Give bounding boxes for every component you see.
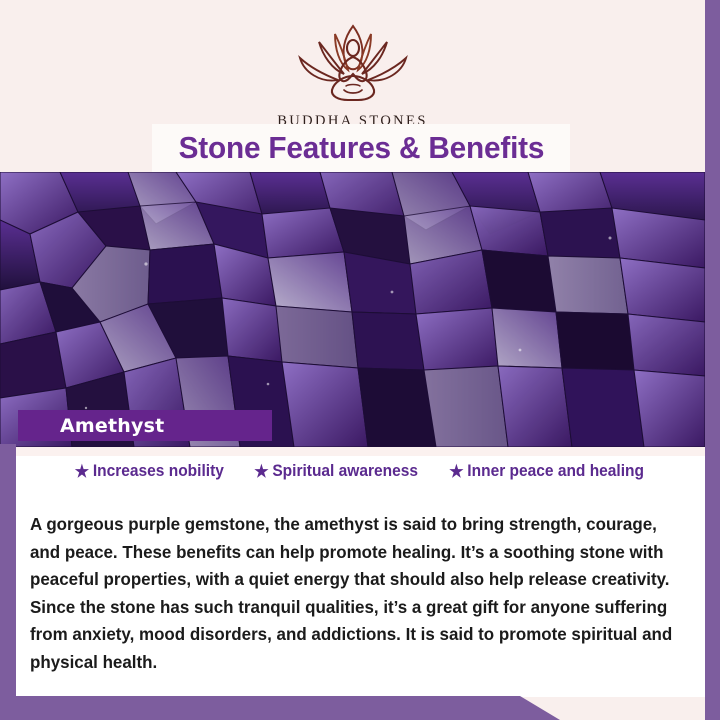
decorative-left-bar xyxy=(0,444,16,720)
brand-logo: BUDDHA STONES xyxy=(0,22,705,130)
card-top-tint xyxy=(16,447,705,456)
header: BUDDHA STONES Stone Features & Benefits xyxy=(0,0,705,172)
page-title: Stone Features & Benefits xyxy=(178,130,544,166)
content-card: ★ Increases nobility ★ Spiritual awarene… xyxy=(16,447,705,697)
feature-list: ★ Increases nobility ★ Spiritual awarene… xyxy=(16,462,705,481)
star-icon: ★ xyxy=(75,463,89,480)
title-banner: Stone Features & Benefits xyxy=(152,124,570,172)
star-icon: ★ xyxy=(254,463,268,480)
feature-label: Spiritual awareness xyxy=(272,462,418,481)
feature-label: Inner peace and healing xyxy=(468,462,645,481)
feature-label: Increases nobility xyxy=(93,462,224,481)
star-icon: ★ xyxy=(450,463,464,480)
decorative-right-bar xyxy=(705,0,720,720)
stone-name-label: Amethyst xyxy=(60,415,164,437)
feature-item: ★ Spiritual awareness xyxy=(254,462,418,481)
poster-root: BUDDHA STONES Stone Features & Benefits xyxy=(0,0,720,720)
decorative-bottom-bar xyxy=(0,696,560,720)
stone-name-tag: Amethyst xyxy=(18,410,272,441)
feature-item: ★ Inner peace and healing xyxy=(450,462,645,481)
stone-description: A gorgeous purple gemstone, the amethyst… xyxy=(30,511,678,676)
lotus-meditation-icon xyxy=(278,22,428,109)
hero-image xyxy=(0,172,705,447)
feature-item: ★ Increases nobility xyxy=(75,462,224,481)
